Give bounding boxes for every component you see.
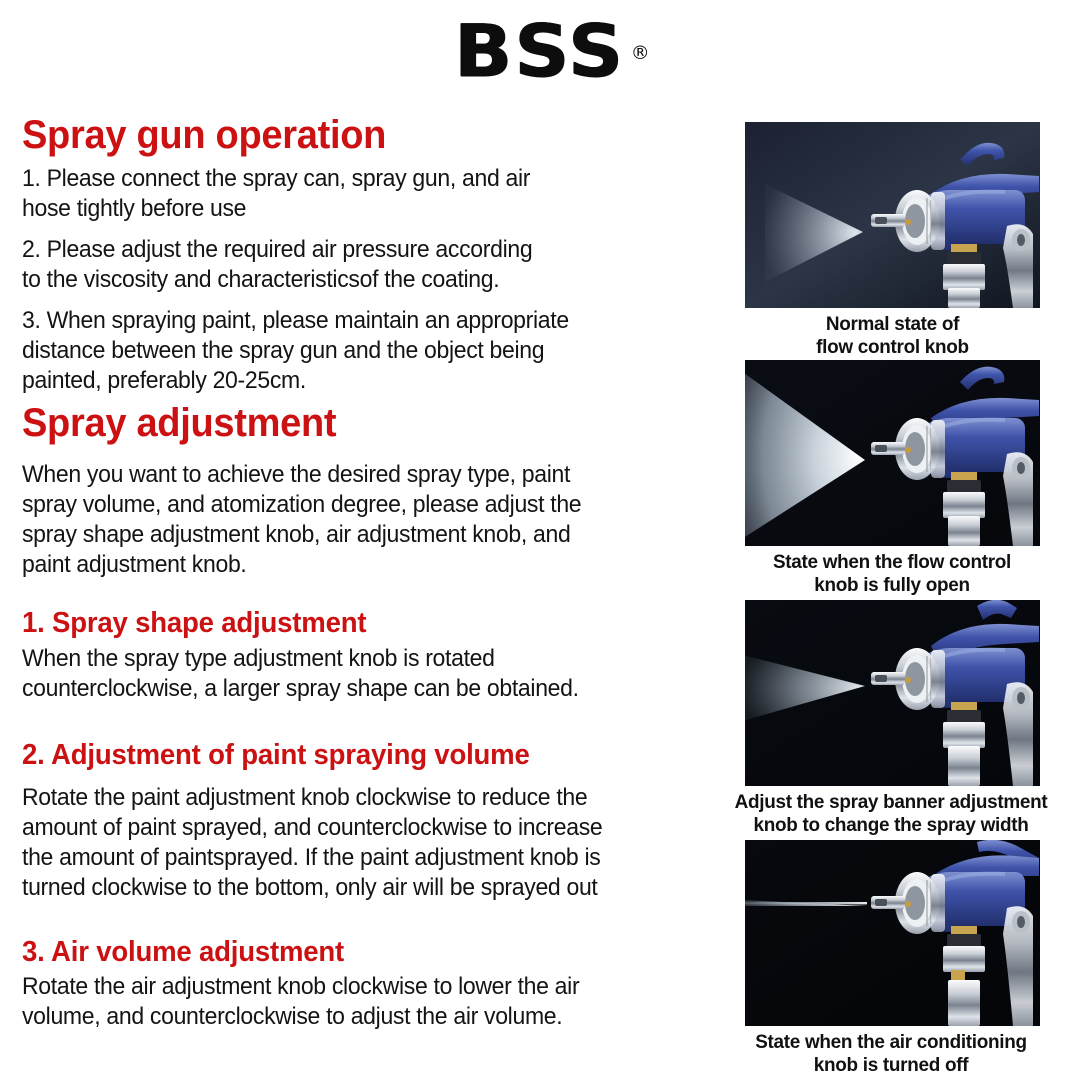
- heading-spray-adjustment: Spray adjustment: [22, 400, 687, 446]
- brand-name: BSS®: [454, 14, 625, 88]
- caption-spray-banner-width: Adjust the spray banner adjustment knob …: [720, 791, 1061, 837]
- photo-spray-gun-air-knob-off: [745, 840, 1040, 1026]
- caption-air-knob-off: State when the air conditioning knob is …: [720, 1031, 1061, 1077]
- photo-block-spray-banner-width: Adjust the spray banner adjustment knob …: [745, 600, 1040, 837]
- heading-spray-shape-adjustment: 1. Spray shape adjustment: [22, 606, 687, 640]
- caption-normal-flow: Normal state of flow control knob: [749, 313, 1035, 359]
- brand-logo: BSS®: [0, 14, 1080, 92]
- heading-spray-gun-operation: Spray gun operation: [22, 112, 687, 158]
- paragraph-air-volume-adjustment: Rotate the air adjustment knob clockwise…: [22, 972, 680, 1032]
- heading-paint-spraying-volume: 2. Adjustment of paint spraying volume: [22, 738, 687, 772]
- photo-spray-gun-normal-flow: [745, 122, 1040, 308]
- photo-spray-gun-spray-banner-width: [745, 600, 1040, 786]
- photo-spray-gun-flow-fully-open: [745, 360, 1040, 546]
- paragraph-spray-shape-adjustment: When the spray type adjustment knob is r…: [22, 644, 680, 704]
- photo-block-flow-fully-open: State when the flow control knob is full…: [745, 360, 1040, 597]
- paragraph-step-3: 3. When spraying paint, please maintain …: [22, 306, 680, 396]
- paragraph-paint-spraying-volume: Rotate the paint adjustment knob clockwi…: [22, 783, 680, 903]
- photo-block-normal-flow: Normal state of flow control knob: [745, 122, 1040, 359]
- paragraph-spray-adjustment: When you want to achieve the desired spr…: [22, 460, 680, 580]
- instructions-column: Spray gun operation 1. Please connect th…: [22, 112, 722, 1032]
- heading-air-volume-adjustment: 3. Air volume adjustment: [22, 935, 687, 969]
- paragraph-step-2: 2. Please adjust the required air pressu…: [22, 235, 680, 295]
- photo-block-air-knob-off: State when the air conditioning knob is …: [745, 840, 1040, 1077]
- caption-flow-fully-open: State when the flow control knob is full…: [737, 551, 1047, 597]
- paragraph-step-1: 1. Please connect the spray can, spray g…: [22, 164, 680, 224]
- registered-trademark-icon: ®: [631, 16, 650, 90]
